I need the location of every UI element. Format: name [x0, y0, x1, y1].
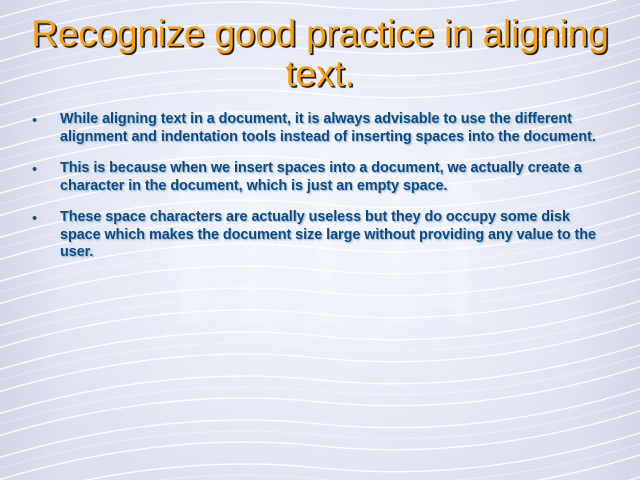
- slide-canvas: Recognize good practice in aligning text…: [0, 0, 640, 480]
- bullet-marker-icon: •: [32, 160, 60, 179]
- bullet-text: While aligning text in a document, it is…: [60, 111, 612, 146]
- slide-title: Recognize good practice in aligning text…: [30, 14, 610, 94]
- list-item: • These space characters are actually us…: [32, 209, 612, 262]
- bullet-marker-icon: •: [32, 111, 60, 130]
- bullet-text: These space characters are actually usel…: [60, 209, 612, 262]
- bullet-marker-icon: •: [32, 209, 60, 228]
- slide-body-list: • While aligning text in a document, it …: [32, 111, 612, 262]
- bullet-text: This is because when we insert spaces in…: [60, 160, 612, 195]
- list-item: • This is because when we insert spaces …: [32, 160, 612, 195]
- list-item: • While aligning text in a document, it …: [32, 111, 612, 146]
